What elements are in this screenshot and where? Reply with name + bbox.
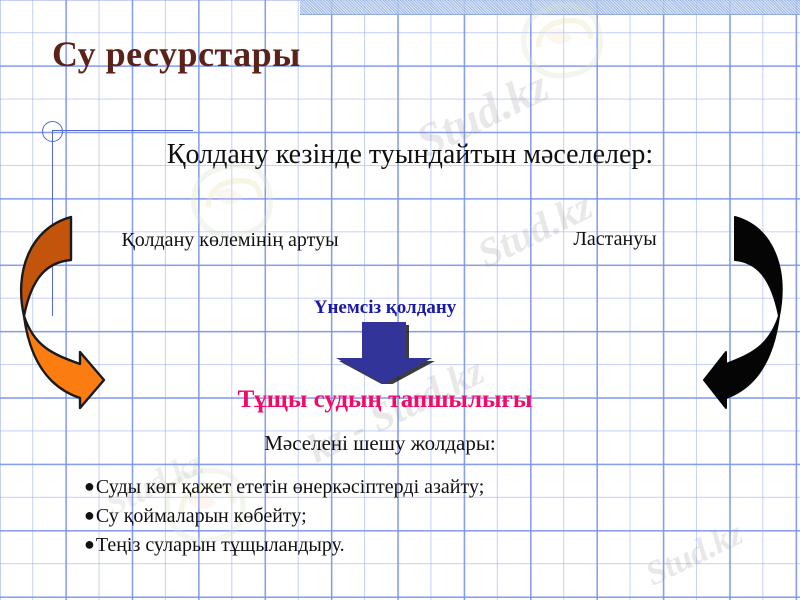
result-label: Тұщы судың тапшылығы [175,386,595,414]
cause-label: Үнемсіз қолдану [255,297,515,319]
problem-label-left: Қолдану көлемінің артуы [110,228,350,253]
solutions-heading: Мәселені шешу жолдары: [160,431,600,456]
background-logo-icon [505,0,615,100]
bullet-dot-icon: ● [84,535,95,553]
list-item-label: Су қоймаларын көбейту; [96,505,307,527]
margin-rule-horizontal [53,130,193,131]
arrow-down-icon [328,322,440,384]
list-item: ●Суды көп қажет ететін өнеркәсіптерді аз… [84,473,704,502]
margin-circle-marker [42,121,63,142]
problem-label-right: Ластануы [500,228,730,251]
solutions-list: ●Суды көп қажет ететін өнеркәсіптерді аз… [84,473,704,559]
list-item-label: Теңіз суларын тұщыландыру. [96,534,345,556]
top-banner [300,0,800,15]
bullet-dot-icon: ● [84,506,95,524]
list-item: ●Теңіз суларын тұщыландыру. [84,531,704,560]
bullet-dot-icon: ● [84,477,95,495]
list-item-label: Суды көп қажет ететін өнеркәсіптерді аза… [96,476,484,498]
list-item: ●Су қоймаларын көбейту; [84,502,704,531]
slide-canvas: Stud.kz Stud.kz kz - Stud.kz Stud.kz Stu… [0,0,800,600]
margin-rule-vertical [52,130,53,316]
curved-arrow-down-right-icon [8,212,114,412]
page-title: Су ресурстары [52,33,301,75]
section-heading: Қолдану кезінде туындайтын мәселелер: [160,138,660,173]
